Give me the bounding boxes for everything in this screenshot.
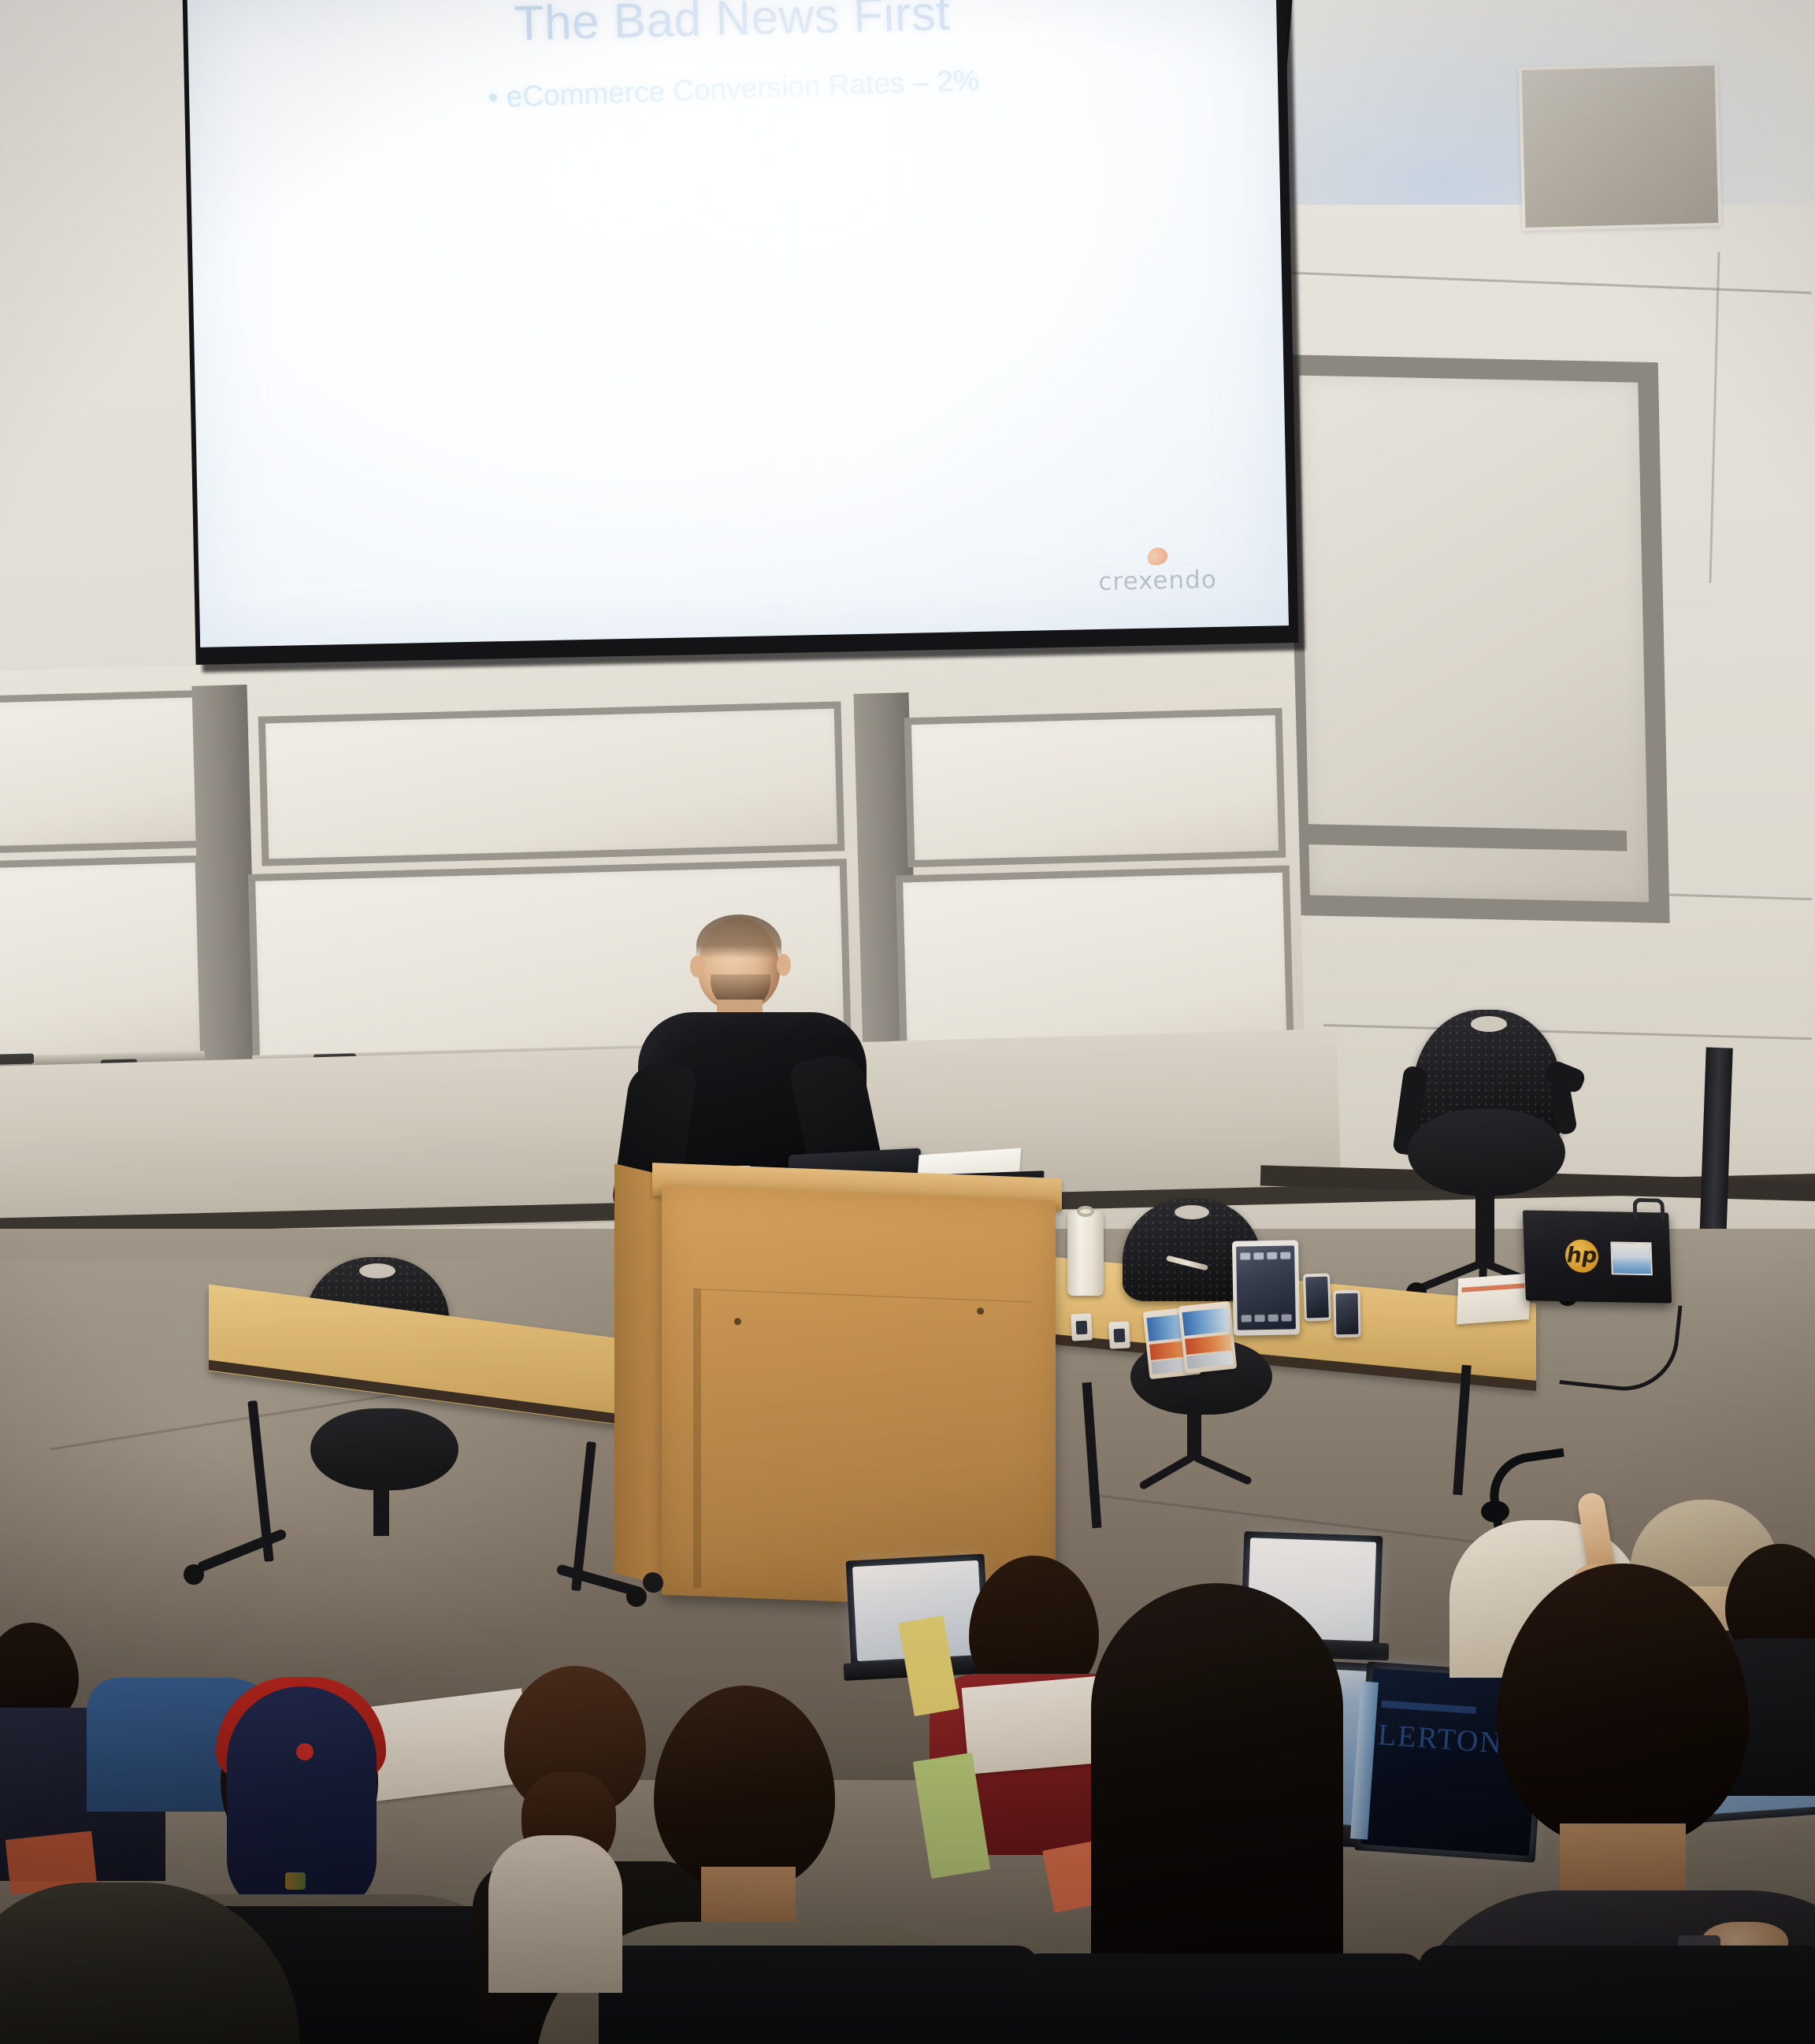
- podium-panel-seam: [693, 1289, 701, 1588]
- podium-caster: [643, 1572, 663, 1593]
- slide-title: The Bad News First: [187, 0, 1277, 60]
- display-table-leg: [1082, 1382, 1102, 1528]
- tablet-screen: [1236, 1245, 1296, 1330]
- smartphone[interactable]: [1333, 1290, 1360, 1338]
- tablet-dock-icons: [1242, 1314, 1292, 1322]
- laptop-wallpaper-subtext: [1382, 1701, 1476, 1714]
- auditorium-seat: [1016, 1953, 1426, 2044]
- small-box-label: [1114, 1329, 1126, 1343]
- chair-post: [1187, 1396, 1201, 1457]
- wooden-podium: [614, 1161, 1056, 1612]
- tablet-app-icons: [1240, 1252, 1290, 1259]
- hp-printer-box: hp: [1523, 1210, 1672, 1303]
- whiteboard-panel: [0, 690, 207, 854]
- podium-screw: [977, 1308, 984, 1315]
- bullet-marker: •: [488, 81, 499, 113]
- whiteboard-marker: [0, 1053, 34, 1064]
- box-product-photo: [1610, 1241, 1653, 1275]
- logo-wordmark: crexendo: [1098, 566, 1217, 596]
- slide-logo: crexendo: [1098, 547, 1218, 596]
- app-icon: [1240, 1252, 1250, 1259]
- blister-art: [1182, 1308, 1230, 1336]
- hp-logo-icon: hp: [1564, 1239, 1599, 1273]
- box-handle: [1632, 1198, 1665, 1220]
- slide-bullet: • eCommerce Conversion Rates – 2%: [189, 53, 1279, 124]
- lecture-hall-scene: The Bad News First • eCommerce Conversio…: [0, 0, 1815, 2044]
- whiteboard-panel: [904, 708, 1286, 867]
- podium-panel-seam: [693, 1289, 1032, 1303]
- projection-screen: The Bad News First • eCommerce Conversio…: [183, 0, 1299, 665]
- small-box-label: [1076, 1321, 1088, 1335]
- slide-surface: The Bad News First • eCommerce Conversio…: [187, 0, 1289, 647]
- whiteboard-panel: [258, 701, 845, 866]
- app-icon: [1282, 1314, 1292, 1321]
- smartphone-screen: [1336, 1293, 1359, 1334]
- left-table-caster: [184, 1564, 204, 1585]
- app-icon: [1253, 1252, 1264, 1259]
- presenter-ear: [777, 954, 791, 976]
- chair-seat: [1408, 1109, 1565, 1196]
- box-stripe: [1461, 1283, 1524, 1293]
- smartphone-screen: [1305, 1277, 1329, 1319]
- whiteboard-panel: [0, 855, 207, 1067]
- left-table-foot: [196, 1528, 288, 1573]
- podium-screw: [734, 1318, 741, 1325]
- chair-gas-cylinder: [1475, 1185, 1494, 1263]
- app-icon: [1242, 1315, 1252, 1322]
- app-icon: [1255, 1315, 1265, 1322]
- small-box: [1108, 1321, 1130, 1348]
- display-table-leg: [1453, 1365, 1471, 1495]
- audience-paper: [962, 1675, 1111, 1774]
- wall-divider-column: [191, 684, 257, 1080]
- app-icon: [1280, 1252, 1290, 1259]
- smartphone[interactable]: [1303, 1273, 1331, 1321]
- chair-back-handle: [359, 1263, 395, 1278]
- blister-art: [1186, 1352, 1233, 1369]
- podium-front-panel: [662, 1185, 1056, 1610]
- crexendo-mark-icon: [1145, 545, 1170, 568]
- gooseneck-mic-head-icon: [1481, 1501, 1509, 1523]
- laptop-wallpaper-text: LERTON: [1377, 1717, 1505, 1760]
- auditorium-seat: [1418, 1946, 1815, 2044]
- presenter-ear: [690, 955, 704, 977]
- blister-pack: [1178, 1301, 1238, 1374]
- cap-button-icon: [296, 1743, 314, 1760]
- auditorium-seat: [599, 1946, 1040, 2044]
- chair-back-handle: [1471, 1016, 1507, 1032]
- presenter-hair: [696, 914, 781, 959]
- white-product-box: [1457, 1274, 1531, 1325]
- ceiling-speaker-grille: [1518, 62, 1721, 231]
- app-icon: [1268, 1315, 1279, 1322]
- bullet-text: eCommerce Conversion Rates – 2%: [506, 64, 980, 113]
- small-box: [1071, 1313, 1093, 1341]
- tablet-device[interactable]: [1232, 1240, 1300, 1335]
- person-shoulders: [488, 1835, 622, 1993]
- app-icon: [1267, 1252, 1277, 1259]
- cap-logo-icon: [285, 1872, 306, 1890]
- chair-back-handle: [1175, 1205, 1209, 1219]
- paper-towel-roll: [1067, 1211, 1104, 1296]
